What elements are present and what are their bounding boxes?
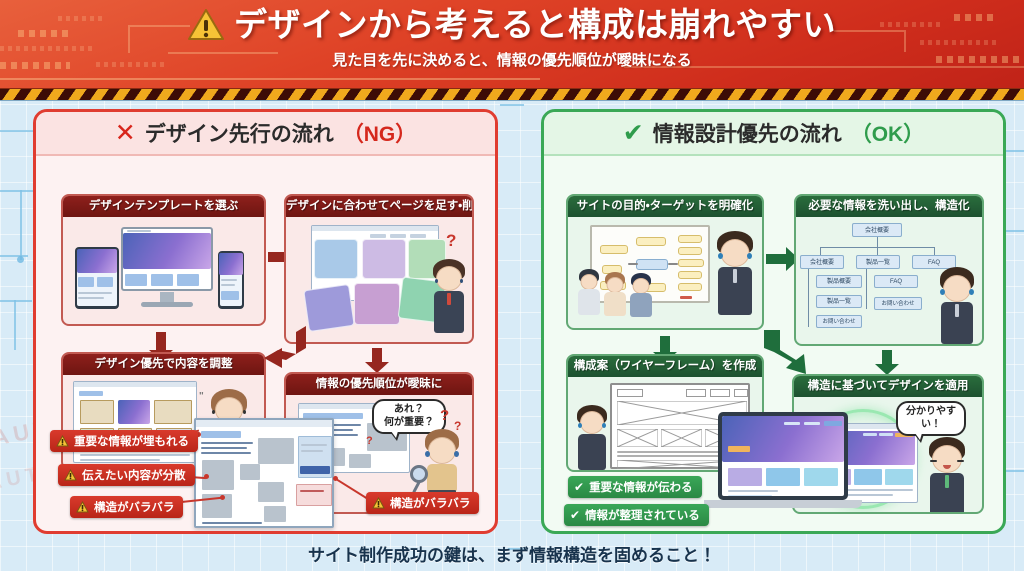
panel-ng-header: ✕ デザイン先行の流れ （NG） [36,112,495,156]
ng-callout-right-label: 構造がバラバラ [390,495,470,511]
chibi-leader [708,231,762,319]
hazard-stripe [0,88,1024,101]
panel-ok: ✔ 情報設計優先の流れ （OK） サイトの目的・ターゲットを明確化 [541,109,1006,534]
ok-callout-1: ✔ 重要な情報が伝わる [568,476,702,498]
ok-step-1-card: サイトの目的・ターゲットを明確化 [566,194,764,330]
panel-ng: ✕ デザイン先行の流れ （NG） デザインテンプレートを選ぶ [33,109,498,534]
sitemap-node: お問い合わせ [874,297,922,310]
ng-step-2-title: デザインに合わせてページを足す・削る [286,196,472,217]
panel-ok-title: 情報設計優先の流れ [653,118,842,148]
ok-step-3-title: 構成案（ワイヤーフレーム）を作成 [568,356,762,377]
ng-step-3-title: デザイン優先で内容を調整 [63,354,264,375]
arrow-ok-2-down [874,350,900,376]
ok-callout-2: ✔ 情報が整理されている [564,504,709,526]
puzzle-piece [303,284,354,332]
sitemap-node: 製品一覧 [816,295,862,308]
warning-triangle-icon [188,8,224,41]
monitor-illustration [121,227,213,309]
ng-step-2-card: デザインに合わせてページを足す・削る ? [284,194,474,344]
cluttered-page-mock [194,418,334,528]
arrow-ok-2-diagonal [762,328,810,376]
warning-triangle-icon [76,501,89,513]
ok-step-1-art [568,217,762,328]
question-mark: ? [440,407,449,424]
page-title: デザインから考えると構成は崩れやすい [234,6,836,44]
chibi-happy-presenter [918,437,976,514]
ng-step-1-art [63,217,264,324]
warning-triangle-icon [56,435,69,447]
panel-ok-body: サイトの目的・ターゲットを明確化 [544,156,1003,534]
ng-callout-2: 伝えたい内容が分散 [58,464,195,486]
ok-step-2-art: 会社概要 会社概要 製品一覧 FAQ 製品概要 製品一覧 お問い合わせ FAQ … [796,217,982,344]
ng-callout-right: 構造がバラバラ [366,492,479,514]
check-icon: ✔ [623,121,644,146]
question-mark: ? [366,435,373,447]
ok-callout-1-label: 重要な情報が伝わる [589,479,693,495]
page-subtitle: 見た目を先に決めると、情報の優先順位が曖昧になる [332,49,691,70]
sitemap-node: 製品概要 [816,275,862,288]
panel-ng-body: デザインテンプレートを選ぶ [36,156,495,534]
arrow-ng-2-down [364,348,390,374]
tablet-illustration [75,247,119,309]
cross-icon: ✕ [115,121,136,146]
ok-callout-2-label: 情報が整理されている [585,507,700,523]
panel-ok-badge: （OK） [851,118,925,148]
ng-step-4-title: 情報の優先順位が曖昧に [286,374,472,395]
sitemap-root: 会社概要 [852,223,902,237]
footer-text: サイト制作成功の鍵は、まず情報構造を固めること！ [308,541,716,566]
chibi-designer [570,405,614,471]
ng-callout-3-label: 構造がバラバラ [94,499,174,515]
check-icon: ✔ [574,481,584,493]
footer: サイト制作成功の鍵は、まず情報構造を固めること！ [0,536,1024,571]
panel-ng-title: デザイン先行の流れ [145,118,334,148]
arrow-ng-2-diagonal [262,324,310,372]
puzzle-piece [362,239,406,279]
check-icon: ✔ [570,509,580,521]
sitemap-node: 会社概要 [800,255,844,269]
ng-step-1-card: デザインテンプレートを選ぶ [61,194,266,326]
panel-ok-header: ✔ 情報設計優先の流れ （OK） [544,112,1003,156]
sitemap-node: お問い合わせ [816,315,862,328]
ng-callout-3: 構造がバラバラ [70,496,183,518]
sitemap-node: FAQ [874,275,918,288]
warning-triangle-icon [64,469,77,481]
ng-callout-1: 重要な情報が埋もれる [50,430,198,452]
ok-callout-3: ✔ 構造が論理的 [586,532,685,534]
ng-step-2-art: ? [286,217,472,342]
speech-bubble-ok: 分かりやすい！ [896,401,966,436]
ok-step-4-title: 構造に基づいてデザインを適用 [794,376,982,397]
ok-step-1-title: サイトの目的・ターゲットを明確化 [568,196,762,217]
question-mark: ? [446,231,456,251]
ok-step-2-title: 必要な情報を洗い出し、構造化 [796,196,982,217]
puzzle-piece [354,283,400,325]
ok-step-2-card: 必要な情報を洗い出し、構造化 会社概要 会社概要 製品一覧 FAQ 製品概要 製… [794,194,984,346]
ng-step-1-title: デザインテンプレートを選ぶ [63,196,264,217]
header-banner: デザインから考えると構成は崩れやすい 見た目を先に決めると、情報の優先順位が曖昧… [0,0,1024,88]
puzzle-piece [314,239,358,279]
phone-illustration [218,251,244,309]
sitemap-node: 製品一覧 [856,255,900,269]
laptop-illustration [704,412,862,520]
ng-callout-2-label: 伝えたい内容が分散 [82,467,186,483]
panel-ng-badge: （NG） [343,118,417,148]
warning-triangle-icon [372,497,385,509]
ng-callout-1-label: 重要な情報が埋もれる [74,433,189,449]
chibi-boy-confused [426,259,472,337]
chibi-presenter [930,267,984,346]
infographic-canvas: デザインから考えると構成は崩れやすい 見た目を先に決めると、情報の優先順位が曖昧… [0,0,1024,571]
chibi-team-member [626,273,656,317]
